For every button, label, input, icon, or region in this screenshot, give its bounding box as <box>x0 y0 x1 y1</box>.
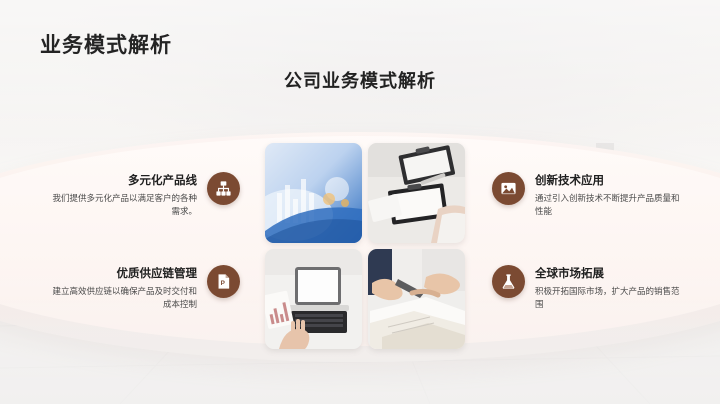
feature-supply-chain-management[interactable]: 优质供应链管理 建立高效供应链以确保产品及时交付和成本控制 P <box>30 265 240 310</box>
slide-canvas: 业务模式解析 公司业务模式解析 <box>0 0 720 404</box>
feature-description: 积极开拓国际市场，扩大产品的销售范围 <box>535 285 685 310</box>
page-title: 公司业务模式解析 <box>0 67 720 93</box>
feature-description: 我们提供多元化产品以满足客户的各种需求。 <box>47 192 197 217</box>
feature-diversified-product-line[interactable]: 多元化产品线 我们提供多元化产品以满足客户的各种需求。 <box>30 172 240 217</box>
photo-data-visualization <box>265 143 362 243</box>
feature-text-group: 优质供应链管理 建立高效供应链以确保产品及时交付和成本控制 <box>47 265 197 310</box>
photo-clipboard-desk <box>368 143 465 243</box>
flask-icon[interactable] <box>492 265 525 298</box>
feature-title: 多元化产品线 <box>47 174 197 189</box>
feature-text-group: 全球市场拓展 积极开拓国际市场，扩大产品的销售范围 <box>535 265 685 310</box>
feature-title: 全球市场拓展 <box>535 267 685 282</box>
corner-title: 业务模式解析 <box>40 29 172 59</box>
feature-description: 通过引入创新技术不断提升产品质量和性能 <box>535 192 685 217</box>
photo-laptop-tablet <box>265 249 362 349</box>
org-chart-icon[interactable] <box>207 172 240 205</box>
feature-text-group: 多元化产品线 我们提供多元化产品以满足客户的各种需求。 <box>47 172 197 217</box>
document-p-icon[interactable]: P <box>207 265 240 298</box>
feature-text-group: 创新技术应用 通过引入创新技术不断提升产品质量和性能 <box>535 172 685 217</box>
svg-text:P: P <box>221 280 226 287</box>
feature-global-market-expansion[interactable]: 全球市场拓展 积极开拓国际市场，扩大产品的销售范围 <box>492 265 702 310</box>
photo-grid <box>265 143 465 345</box>
feature-innovative-technology[interactable]: 创新技术应用 通过引入创新技术不断提升产品质量和性能 <box>492 172 702 217</box>
feature-title: 优质供应链管理 <box>47 267 197 282</box>
photo-signing-documents <box>368 249 465 349</box>
picture-icon[interactable] <box>492 172 525 205</box>
feature-title: 创新技术应用 <box>535 174 685 189</box>
feature-description: 建立高效供应链以确保产品及时交付和成本控制 <box>47 285 197 310</box>
